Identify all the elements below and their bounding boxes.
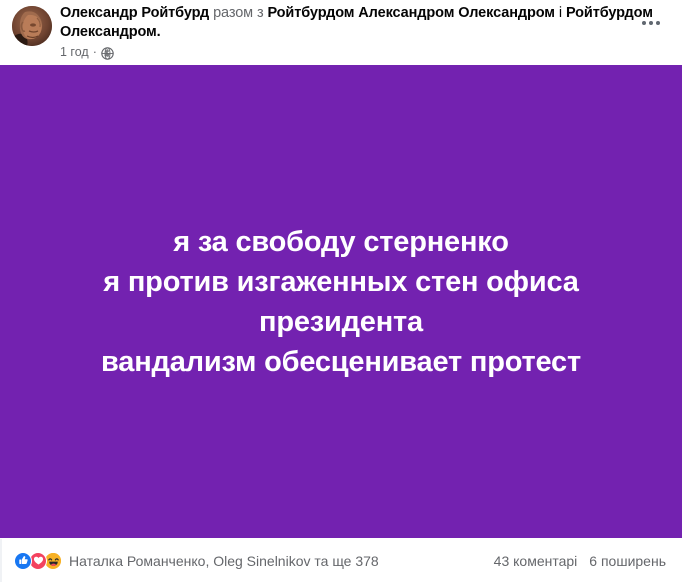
byline-conjunction: разом з: [213, 5, 263, 21]
dot: [642, 21, 646, 25]
image-text-line-3: президента: [30, 302, 652, 342]
reactions-summary[interactable]: Наталка Романченко, Oleg Sinelnikov та щ…: [14, 552, 379, 570]
facebook-post-card: Олександр Ройтбурд разом з Ройтбурдом Ал…: [0, 0, 682, 582]
post-timestamp[interactable]: 1 год: [60, 44, 89, 60]
more-options-icon[interactable]: [636, 8, 666, 38]
user-portrait-avatar-icon: [12, 6, 52, 46]
post-footer: Наталка Романченко, Oleg Sinelnikov та щ…: [0, 538, 682, 582]
post-header: Олександр Ройтбурд разом з Ройтбурдом Ал…: [0, 0, 682, 65]
post-image[interactable]: я за свободу стерненко я против изгаженн…: [0, 65, 682, 538]
reaction-names[interactable]: Наталка Романченко, Oleg Sinelnikov та щ…: [69, 552, 379, 570]
footer-counts: 43 коментарі 6 поширень: [494, 552, 666, 570]
globe-public-icon[interactable]: [101, 47, 114, 60]
footer-left-edge: [0, 539, 2, 582]
reaction-icon-group[interactable]: [14, 552, 59, 570]
author-name[interactable]: Олександр Ройтбурд: [60, 5, 209, 21]
tagged-person-1[interactable]: Ройтбурдом Александром Олександром: [267, 5, 554, 21]
meta-separator: ·: [93, 44, 97, 60]
image-text-line-4: вандализм обесценивает протест: [30, 342, 652, 382]
avatar[interactable]: [12, 6, 52, 46]
post-byline-block: Олександр Ройтбурд разом з Ройтбурдом Ал…: [60, 4, 670, 60]
post-image-text: я за свободу стерненко я против изгаженн…: [0, 222, 682, 382]
shares-count[interactable]: 6 поширень: [589, 552, 666, 570]
dot: [656, 21, 660, 25]
image-text-line-2: я против изгаженных стен офиса: [30, 262, 652, 302]
image-text-line-1: я за свободу стерненко: [30, 222, 652, 262]
comments-count[interactable]: 43 коментарі: [494, 552, 578, 570]
post-byline: Олександр Ройтбурд разом з Ройтбурдом Ал…: [60, 4, 670, 42]
like-reaction-icon[interactable]: [14, 552, 32, 570]
dot: [649, 21, 653, 25]
post-meta: 1 год ·: [60, 44, 670, 60]
